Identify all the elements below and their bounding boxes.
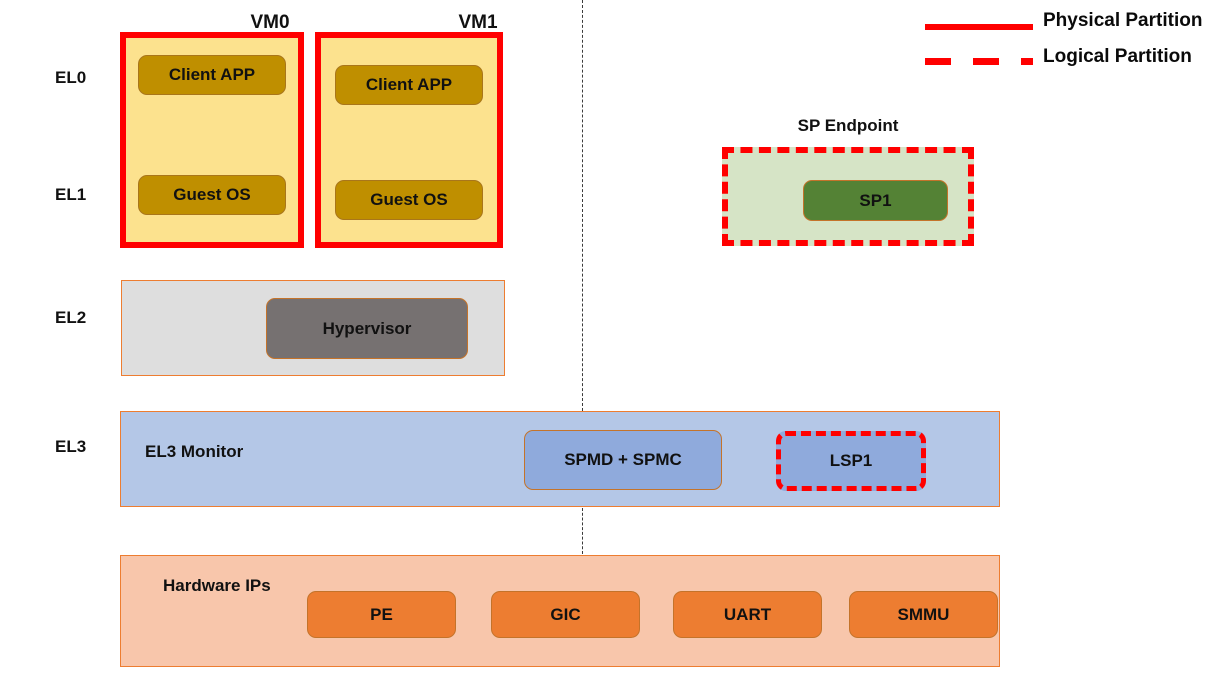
hardware-ips-title: Hardware IPs — [163, 576, 271, 596]
el2-band: Hypervisor — [121, 280, 505, 376]
hardware-node-uart[interactable]: UART — [673, 591, 822, 638]
el3-band: EL3 Monitor SPMD + SPMC LSP1 — [120, 411, 1000, 507]
vm1-client-app-node[interactable]: Client APP — [335, 65, 483, 105]
sp1-node[interactable]: SP1 — [803, 180, 948, 221]
hardware-node-gic-label: GIC — [550, 605, 580, 625]
el3-monitor-title: EL3 Monitor — [145, 442, 243, 462]
vm1-guest-os-node[interactable]: Guest OS — [335, 180, 483, 220]
spmd-spmc-label: SPMD + SPMC — [564, 450, 682, 470]
secure-nonsecure-divider-lower — [582, 508, 583, 554]
exception-level-label-el1: EL1 — [55, 185, 86, 205]
lsp1-logical-partition[interactable]: LSP1 — [776, 431, 926, 491]
sp-endpoint-logical-partition[interactable]: SP1 — [722, 147, 974, 246]
legend-swatch-logical-partition — [925, 58, 1033, 65]
vm0-guest-os-node[interactable]: Guest OS — [138, 175, 286, 215]
hardware-node-smmu-label: SMMU — [898, 605, 950, 625]
legend: Physical Partition Logical Partition — [925, 10, 1210, 74]
vm1-physical-partition[interactable]: Client APP Guest OS — [315, 32, 503, 248]
spmd-spmc-node[interactable]: SPMD + SPMC — [524, 430, 722, 490]
vm0-client-app-label: Client APP — [169, 65, 255, 85]
exception-level-label-el2: EL2 — [55, 308, 86, 328]
hypervisor-label: Hypervisor — [323, 319, 412, 339]
secure-nonsecure-divider-upper — [582, 0, 583, 411]
hardware-node-smmu[interactable]: SMMU — [849, 591, 998, 638]
sp1-label: SP1 — [859, 191, 891, 211]
hardware-node-pe[interactable]: PE — [307, 591, 456, 638]
architecture-diagram: Physical Partition Logical Partition EL0… — [0, 0, 1220, 696]
exception-level-label-el3: EL3 — [55, 437, 86, 457]
legend-label-physical-partition: Physical Partition — [1043, 10, 1202, 32]
hardware-node-pe-label: PE — [370, 605, 393, 625]
hypervisor-node[interactable]: Hypervisor — [266, 298, 468, 359]
vm0-physical-partition[interactable]: Client APP Guest OS — [120, 32, 304, 248]
exception-level-label-el0: EL0 — [55, 68, 86, 88]
vm1-title: VM1 — [418, 12, 538, 34]
vm1-client-app-label: Client APP — [366, 75, 452, 95]
lsp1-label: LSP1 — [830, 451, 873, 471]
vm0-client-app-node[interactable]: Client APP — [138, 55, 286, 95]
legend-swatch-physical-partition — [925, 24, 1033, 30]
hardware-node-gic[interactable]: GIC — [491, 591, 640, 638]
sp-endpoint-title: SP Endpoint — [722, 116, 974, 136]
hardware-ips-band: Hardware IPs PE GIC UART SMMU — [120, 555, 1000, 667]
vm0-guest-os-label: Guest OS — [173, 185, 250, 205]
vm0-title: VM0 — [210, 12, 330, 34]
vm1-guest-os-label: Guest OS — [370, 190, 447, 210]
legend-label-logical-partition: Logical Partition — [1043, 46, 1192, 68]
hardware-node-uart-label: UART — [724, 605, 771, 625]
